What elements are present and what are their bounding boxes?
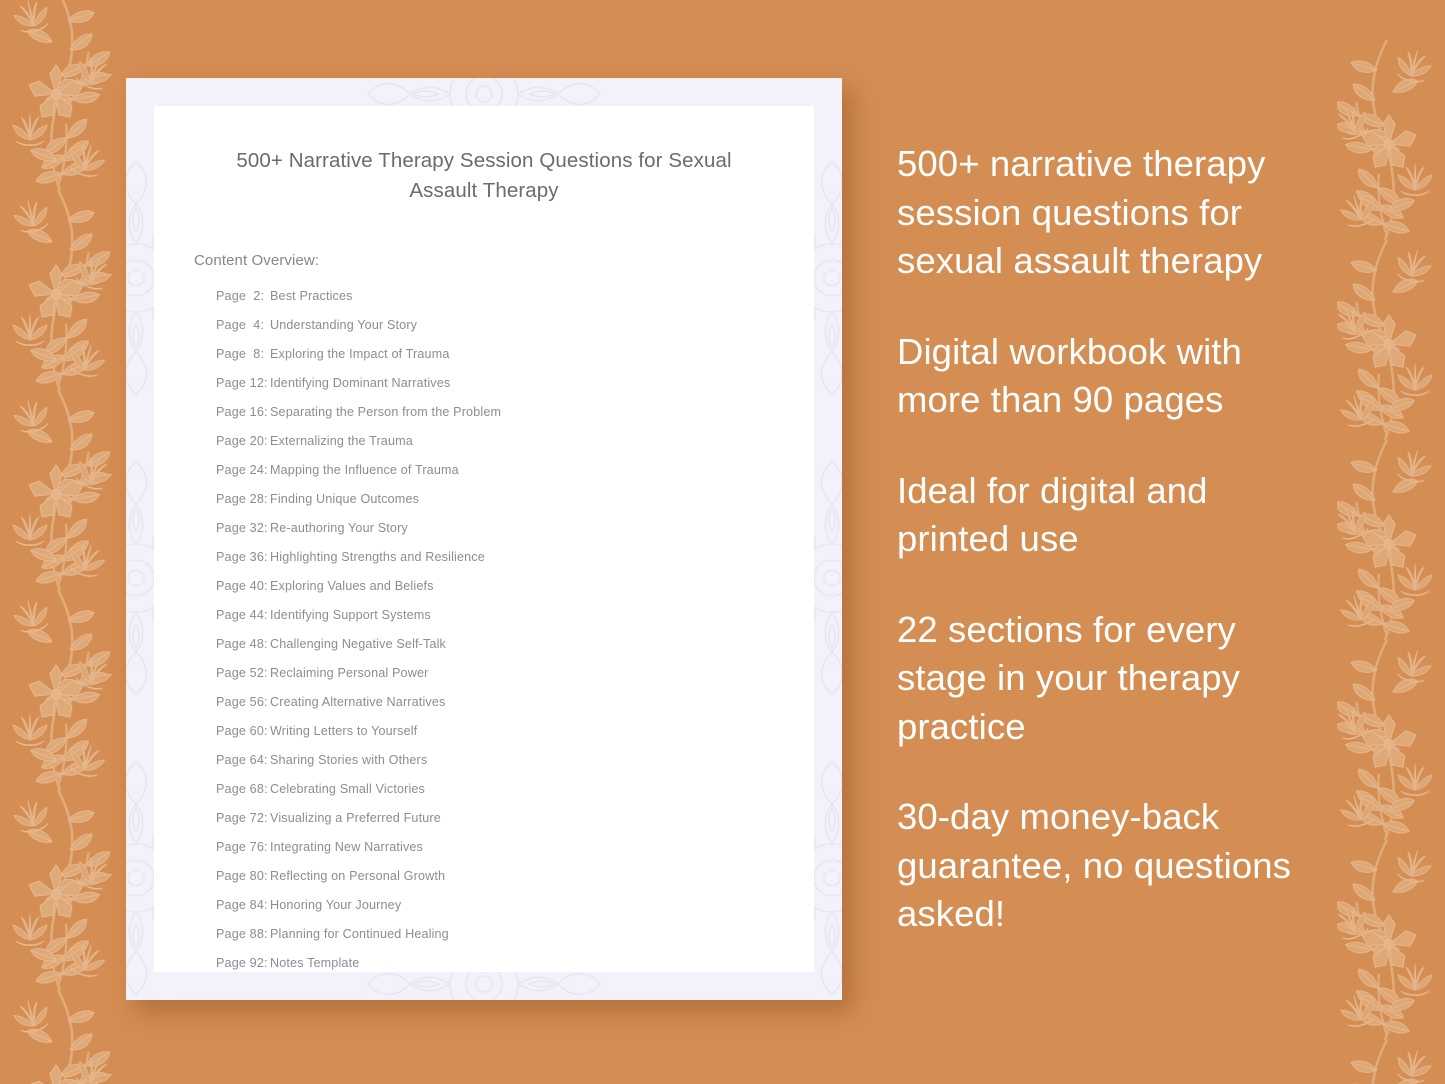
- toc-row: Page 60:Writing Letters to Yourself: [216, 724, 784, 753]
- toc-page-number: Page 12:: [216, 376, 270, 390]
- toc-section-label: Visualizing a Preferred Future: [270, 811, 441, 825]
- toc-section-label: Finding Unique Outcomes: [270, 492, 419, 506]
- toc-section-label: Exploring Values and Beliefs: [270, 579, 434, 593]
- toc-row: Page 44:Identifying Support Systems: [216, 608, 784, 637]
- promo-block: 30-day money-back guarantee, no question…: [897, 793, 1329, 939]
- toc-page-number: Page 56:: [216, 695, 270, 709]
- toc-section-label: Identifying Support Systems: [270, 608, 431, 622]
- document-page: 500+ Narrative Therapy Session Questions…: [154, 106, 814, 972]
- toc-section-label: Mapping the Influence of Trauma: [270, 463, 459, 477]
- toc-page-number: Page 72:: [216, 811, 270, 825]
- toc-section-label: Creating Alternative Narratives: [270, 695, 445, 709]
- toc-page-number: Page 60:: [216, 724, 270, 738]
- toc-page-number: Page 36:: [216, 550, 270, 564]
- toc-row: Page 32:Re-authoring Your Story: [216, 521, 784, 550]
- toc-page-number: Page 64:: [216, 753, 270, 767]
- toc-section-label: Understanding Your Story: [270, 318, 417, 332]
- toc-section-label: Re-authoring Your Story: [270, 521, 408, 535]
- toc-row: Page 12:Identifying Dominant Narratives: [216, 376, 784, 405]
- toc-row: Page 88:Planning for Continued Healing: [216, 927, 784, 956]
- toc-page-number: Page 88:: [216, 927, 270, 941]
- toc-row: Page 2:Best Practices: [216, 289, 784, 318]
- toc-page-number: Page 48:: [216, 637, 270, 651]
- toc-row: Page 16:Separating the Person from the P…: [216, 405, 784, 434]
- toc-row: Page 92:Notes Template: [216, 956, 784, 985]
- toc-section-label: Honoring Your Journey: [270, 898, 401, 912]
- toc-page-number: Page 2:: [216, 289, 270, 303]
- toc-row: Page 36:Highlighting Strengths and Resil…: [216, 550, 784, 579]
- toc-section-label: Reclaiming Personal Power: [270, 666, 428, 680]
- toc-row: Page 48:Challenging Negative Self-Talk: [216, 637, 784, 666]
- toc-section-label: Externalizing the Trauma: [270, 434, 413, 448]
- toc-row: Page 80:Reflecting on Personal Growth: [216, 869, 784, 898]
- toc-page-number: Page 40:: [216, 579, 270, 593]
- toc-page-number: Page 20:: [216, 434, 270, 448]
- toc-page-number: Page 28:: [216, 492, 270, 506]
- promo-block: Ideal for digital and printed use: [897, 467, 1329, 564]
- toc-page-number: Page 8:: [216, 347, 270, 361]
- toc-section-label: Challenging Negative Self-Talk: [270, 637, 446, 651]
- toc-row: Page 24:Mapping the Influence of Trauma: [216, 463, 784, 492]
- promo-block: 22 sections for every stage in your ther…: [897, 606, 1329, 752]
- toc-page-number: Page 52:: [216, 666, 270, 680]
- toc-page-number: Page 24:: [216, 463, 270, 477]
- toc-page-number: Page 32:: [216, 521, 270, 535]
- toc-section-label: Writing Letters to Yourself: [270, 724, 417, 738]
- toc-page-number: Page 4:: [216, 318, 270, 332]
- toc-row: Page 64:Sharing Stories with Others: [216, 753, 784, 782]
- toc-row: Page 28:Finding Unique Outcomes: [216, 492, 784, 521]
- toc-row: Page 8:Exploring the Impact of Trauma: [216, 347, 784, 376]
- promo-block: Digital workbook with more than 90 pages: [897, 328, 1329, 425]
- toc-page-number: Page 44:: [216, 608, 270, 622]
- toc-row: Page 56:Creating Alternative Narratives: [216, 695, 784, 724]
- toc-page-number: Page 80:: [216, 869, 270, 883]
- toc-section-label: Best Practices: [270, 289, 353, 303]
- toc-row: Page 72:Visualizing a Preferred Future: [216, 811, 784, 840]
- toc-row: Page 84:Honoring Your Journey: [216, 898, 784, 927]
- document-card: 500+ Narrative Therapy Session Questions…: [126, 78, 842, 1000]
- toc-section-label: Exploring the Impact of Trauma: [270, 347, 450, 361]
- toc-row: Page 68:Celebrating Small Victories: [216, 782, 784, 811]
- toc-section-label: Reflecting on Personal Growth: [270, 869, 445, 883]
- toc-section-label: Planning for Continued Healing: [270, 927, 449, 941]
- toc-page-number: Page 68:: [216, 782, 270, 796]
- floral-vine-icon: [1337, 0, 1445, 1084]
- toc-section-label: Notes Template: [270, 956, 359, 970]
- left-floral-border: [0, 0, 140, 1084]
- toc-page-number: Page 92:: [216, 956, 270, 970]
- toc-page-number: Page 76:: [216, 840, 270, 854]
- toc-row: Page 52:Reclaiming Personal Power: [216, 666, 784, 695]
- toc-section-label: Sharing Stories with Others: [270, 753, 427, 767]
- page-title: 500+ Narrative Therapy Session Questions…: [184, 146, 784, 206]
- toc-row: Page 40:Exploring Values and Beliefs: [216, 579, 784, 608]
- table-of-contents: Page 2:Best PracticesPage 4:Understandin…: [216, 289, 784, 985]
- toc-section-label: Highlighting Strengths and Resilience: [270, 550, 485, 564]
- toc-section-label: Integrating New Narratives: [270, 840, 423, 854]
- promo-column: 500+ narrative therapy session questions…: [897, 140, 1329, 939]
- floral-vine-icon: [0, 0, 140, 1084]
- toc-section-label: Celebrating Small Victories: [270, 782, 425, 796]
- content-overview-label: Content Overview:: [194, 252, 784, 269]
- toc-row: Page 4:Understanding Your Story: [216, 318, 784, 347]
- toc-row: Page 20:Externalizing the Trauma: [216, 434, 784, 463]
- right-floral-border: [1337, 0, 1445, 1084]
- toc-section-label: Separating the Person from the Problem: [270, 405, 501, 419]
- toc-section-label: Identifying Dominant Narratives: [270, 376, 450, 390]
- toc-row: Page 76:Integrating New Narratives: [216, 840, 784, 869]
- promo-block: 500+ narrative therapy session questions…: [897, 140, 1329, 286]
- toc-page-number: Page 84:: [216, 898, 270, 912]
- toc-page-number: Page 16:: [216, 405, 270, 419]
